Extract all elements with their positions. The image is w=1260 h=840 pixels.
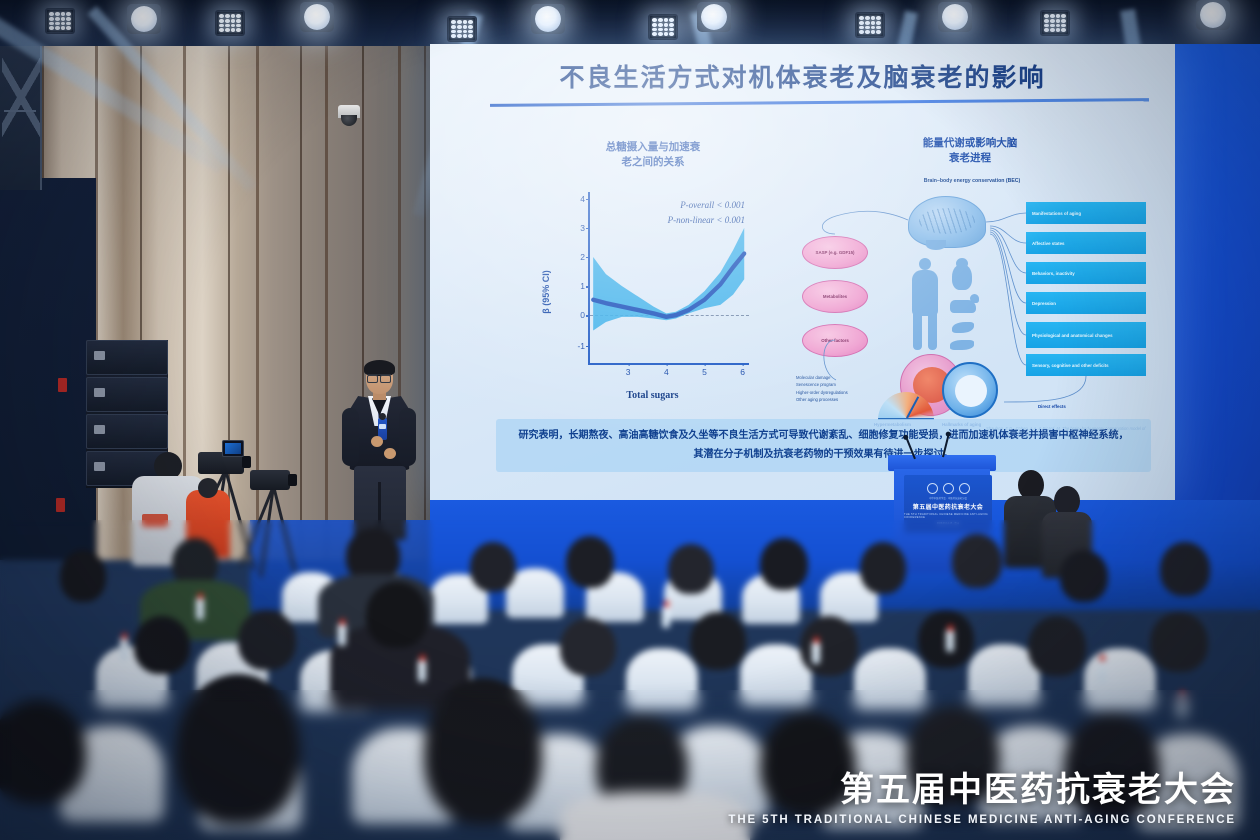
watermark-title-cn: 第五届中医药抗衰老大会 [728, 762, 1236, 811]
slide-caption: 研究表明，长期熬夜、高油高糖饮食及久坐等不良生活方式可导致代谢紊乱、细胞修复功能… [496, 419, 1151, 472]
audience-head [1060, 550, 1108, 602]
organization-logo-icon [927, 483, 938, 494]
audience-head-front [424, 678, 542, 824]
chair [1084, 648, 1156, 710]
water-bottle [196, 598, 204, 620]
box-depression: Depression [1026, 292, 1146, 314]
moving-head-spotlight [697, 2, 731, 36]
dome-camera-icon [338, 105, 360, 118]
fish-icon [950, 340, 974, 350]
water-bottle [1098, 660, 1106, 682]
projection-screen: 不良生活方式对机体衰老及脑衰老的影响 总糖摄入量与加速衰 老之间的关系 能量代谢… [430, 44, 1175, 500]
left-panel-heading: 总糖摄入量与加速衰 老之间的关系 [538, 140, 768, 170]
bullet-item: Senescence program [796, 381, 848, 388]
stage-lighting-rig [0, 0, 1260, 48]
audience-head [690, 612, 746, 670]
p-nonlinear: P-non-linear < 0.001 [668, 215, 745, 225]
presenter-hand-right [384, 448, 396, 459]
audience-head [1028, 616, 1086, 676]
chair [854, 648, 926, 710]
caption-line-2: 其潜在分子机制及抗衰老药物的干预效果有待进一步探讨。 [506, 446, 1141, 465]
dark-wall-panel [0, 178, 96, 560]
water-bottle [812, 642, 820, 664]
water-bottle [946, 630, 954, 652]
audience-head [566, 536, 614, 588]
moving-head-spotlight [300, 2, 334, 36]
box-physiological-changes: Physiological and anatomical changes [1026, 322, 1146, 348]
direct-effects-label: Direct effects [1038, 404, 1066, 409]
bird-icon [952, 322, 974, 333]
y-tick: 1 [580, 281, 585, 291]
led-wash-light [1040, 10, 1070, 36]
y-tick: 4 [580, 194, 585, 204]
oval-sasp: SASP (e.g. GDF15) [802, 236, 868, 269]
bullet-item: Higher-order dysregulations [796, 389, 848, 396]
stage-backdrop [1172, 44, 1260, 564]
audience-head [1150, 612, 1208, 672]
x-tick: 4 [664, 367, 669, 377]
bec-model-diagram: Brain–body energy conservation (BEC) SAS… [790, 176, 1150, 436]
glasses-icon [367, 374, 391, 380]
hallmarks-wheel-icon [942, 362, 998, 418]
bullet-item: Molecular damage [796, 374, 848, 381]
podium-sign-header: 中华中医药学会 · 中医药抗衰老分会 [929, 496, 967, 500]
caption-line-1: 研究表明，长期熬夜、高油高糖饮食及久坐等不良生活方式可导致代谢紊乱、细胞修复功能… [506, 427, 1141, 446]
box-manifestations: Manifestations of aging [1026, 202, 1146, 224]
watermark-title-en: THE 5TH TRADITIONAL CHINESE MEDICINE ANT… [728, 814, 1236, 826]
presenter-left-arm [342, 408, 359, 466]
water-bottle [338, 624, 346, 646]
audience-head [134, 616, 190, 674]
conference-photo: 不良生活方式对机体衰老及脑衰老的影响 总糖摄入量与加速衰 老之间的关系 能量代谢… [0, 0, 1260, 840]
led-wash-light [45, 8, 75, 34]
chart-x-axis-label: Total sugars [626, 390, 678, 401]
audience-head [470, 542, 516, 592]
diagram-bullet-list: Molecular damage Senescence program High… [796, 374, 848, 403]
y-tick: 0 [580, 310, 585, 320]
water-bottle [418, 660, 426, 682]
water-bottle [1178, 696, 1186, 718]
chart-plot-area: 4 3 2 1 0 -1 3 4 5 6 P-o [588, 192, 749, 365]
audience-head [60, 550, 106, 602]
box-behaviors: Behaviors, inactivity [1026, 262, 1146, 284]
y-tick: 3 [580, 223, 585, 233]
box-affective-states: Affective states [1026, 232, 1146, 254]
podium-sign-title-cn: 第五届中医药抗衰老大会 [913, 502, 983, 511]
moving-head-spotlight [127, 4, 161, 38]
audience-head [560, 618, 616, 676]
video-camera-secondary [250, 470, 290, 490]
slide-title: 不良生活方式对机体衰老及脑衰老的影响 [430, 58, 1175, 94]
water-bottle [120, 638, 128, 660]
fire-alarm-left [58, 378, 67, 392]
led-wash-light [648, 14, 678, 40]
brain-icon [908, 196, 986, 248]
ape-icon [952, 264, 972, 290]
chart-pvalue-annotations: P-overall < 0.001 P-non-linear < 0.001 [668, 198, 745, 229]
audience-head [760, 538, 808, 590]
audience-head-front [176, 674, 300, 824]
led-wash-light [855, 12, 885, 38]
brain-stem-icon [926, 240, 946, 250]
audience-shoulders-front [560, 792, 750, 840]
diagram-top-label: Brain–body energy conservation (BEC) [794, 178, 1150, 184]
presenter-hand-left [371, 436, 383, 447]
audience-head-front [0, 700, 86, 804]
dog-icon [950, 300, 976, 313]
presenter [338, 362, 420, 540]
audience-head [366, 582, 428, 648]
chart-y-axis-label: β (95% CI) [541, 270, 551, 314]
audience-head [668, 544, 714, 594]
oval-other-factors: Other factors [802, 324, 868, 357]
led-wash-light [215, 10, 245, 36]
moving-head-spotlight [938, 2, 972, 36]
organization-logo-icon [959, 483, 970, 494]
audience-head [800, 616, 858, 676]
audience-head [860, 542, 906, 594]
x-tick: 3 [626, 367, 631, 377]
title-underline [490, 98, 1149, 107]
x-tick: 5 [702, 367, 707, 377]
fire-alarm-lower [56, 498, 65, 512]
right-panel-heading: 能量代谢或影响大脑 衰老进程 [830, 136, 1110, 166]
box-sensory-deficits: Sensory, cognitive and other deficits [1026, 354, 1146, 376]
chair [626, 648, 698, 710]
audience-head [952, 534, 1002, 588]
x-tick: 6 [740, 367, 745, 377]
y-tick: 2 [580, 252, 585, 262]
led-wash-light [447, 16, 477, 42]
camera-monitor [222, 440, 244, 457]
y-tick: -1 [577, 341, 585, 351]
water-bottle [662, 606, 670, 628]
oval-metabolites: Metabolites [802, 280, 868, 313]
bullet-item: Other aging processes [796, 396, 848, 403]
human-silhouette-icon [908, 258, 942, 350]
moving-head-spotlight [531, 4, 565, 38]
audience-head [1160, 542, 1210, 596]
presenter-right-arm [399, 408, 416, 466]
moving-head-spotlight [1196, 0, 1230, 34]
total-sugars-chart: β (95% CI) 4 3 2 1 0 -1 3 4 5 6 [550, 184, 755, 399]
crew-red-head [198, 478, 218, 498]
p-overall: P-overall < 0.001 [680, 200, 745, 210]
audience-head [238, 610, 296, 670]
conference-watermark: 第五届中医药抗衰老大会 THE 5TH TRADITIONAL CHINESE … [728, 762, 1236, 826]
organization-logo-icon [943, 483, 954, 494]
podium-sign-title-en: THE 5TH TRADITIONAL CHINESE MEDICINE ANT… [904, 513, 992, 519]
